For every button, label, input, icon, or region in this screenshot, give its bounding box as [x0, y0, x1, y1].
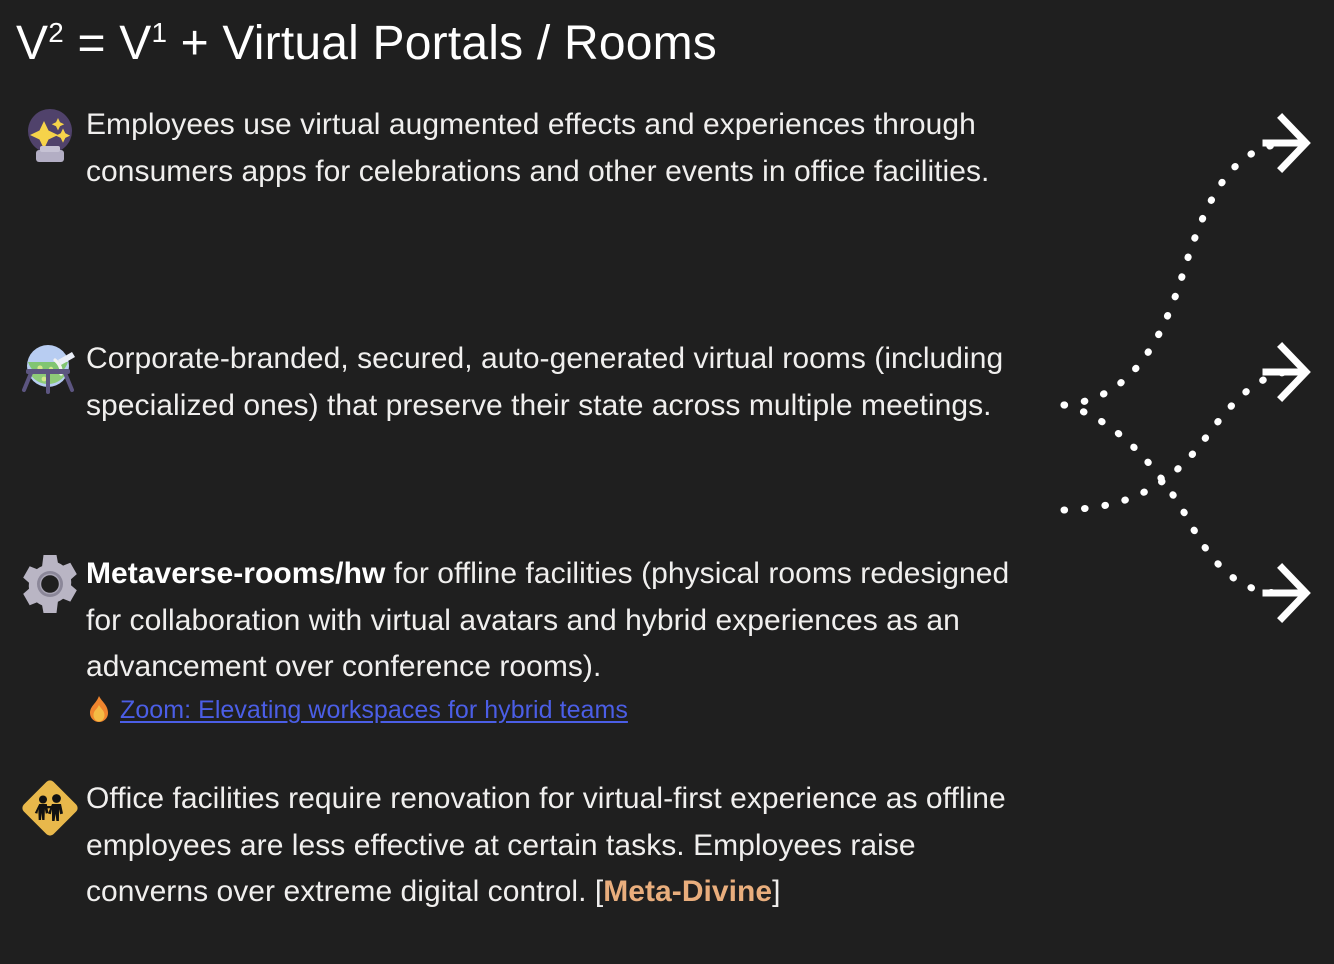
- arrow-head-top: [1266, 118, 1306, 168]
- bullet-3-bold-lead: Metaverse-rooms/hw: [86, 557, 385, 590]
- title-v2-sup: 2: [48, 17, 64, 48]
- arrow-head-middle: [1266, 347, 1306, 397]
- page-title: V2 = V1 + Virtual Portals / Rooms: [16, 18, 717, 71]
- bullet-4-text-after: ]: [772, 875, 780, 908]
- zoom-link-row[interactable]: Zoom: Elevating workspaces for hybrid te…: [86, 696, 1046, 726]
- title-tail: + Virtual Portals / Rooms: [167, 17, 717, 70]
- bullet-text-1: Employees use virtual augmented effects …: [86, 102, 1046, 195]
- meta-divine-highlight: Meta-Divine: [603, 875, 772, 908]
- fire-icon: [86, 696, 112, 726]
- arrow-path-middle: [1064, 372, 1286, 510]
- arrows-group: .dotpath { fill: none; stroke: #ffffff; …: [1054, 0, 1334, 964]
- bullet-item-4: Office facilities require renovation for…: [14, 776, 1046, 916]
- crystal-ball-icon: [14, 102, 86, 168]
- title-mid: = V: [64, 17, 152, 70]
- bullet-item-3: Metaverse-rooms/hw for offline facilitie…: [14, 551, 1046, 726]
- slide-root: V2 = V1 + Virtual Portals / Rooms Employ…: [0, 0, 1334, 964]
- bullet-text-4: Office facilities require renovation for…: [86, 776, 1046, 916]
- bullet-text-2: Corporate-branded, secured, auto-generat…: [86, 336, 1046, 429]
- bullet-item-2: Corporate-branded, secured, auto-generat…: [14, 336, 1046, 429]
- bullet-text-3: Metaverse-rooms/hw for offline facilitie…: [86, 551, 1046, 691]
- arrow-path-bottom: [1064, 405, 1286, 593]
- globe-on-stand-icon: [14, 336, 86, 402]
- children-crossing-icon: [14, 776, 86, 842]
- bullet-4-text-before: Office facilities require renovation for…: [86, 782, 1006, 908]
- bullet-item-1: Employees use virtual augmented effects …: [14, 102, 1046, 195]
- title-v1-sup: 1: [151, 17, 167, 48]
- arrow-path-top: [1064, 143, 1286, 405]
- gear-icon: [14, 551, 86, 617]
- zoom-link[interactable]: Zoom: Elevating workspaces for hybrid te…: [120, 696, 628, 725]
- arrow-head-bottom: [1266, 568, 1306, 618]
- title-v2-base: V: [16, 17, 48, 70]
